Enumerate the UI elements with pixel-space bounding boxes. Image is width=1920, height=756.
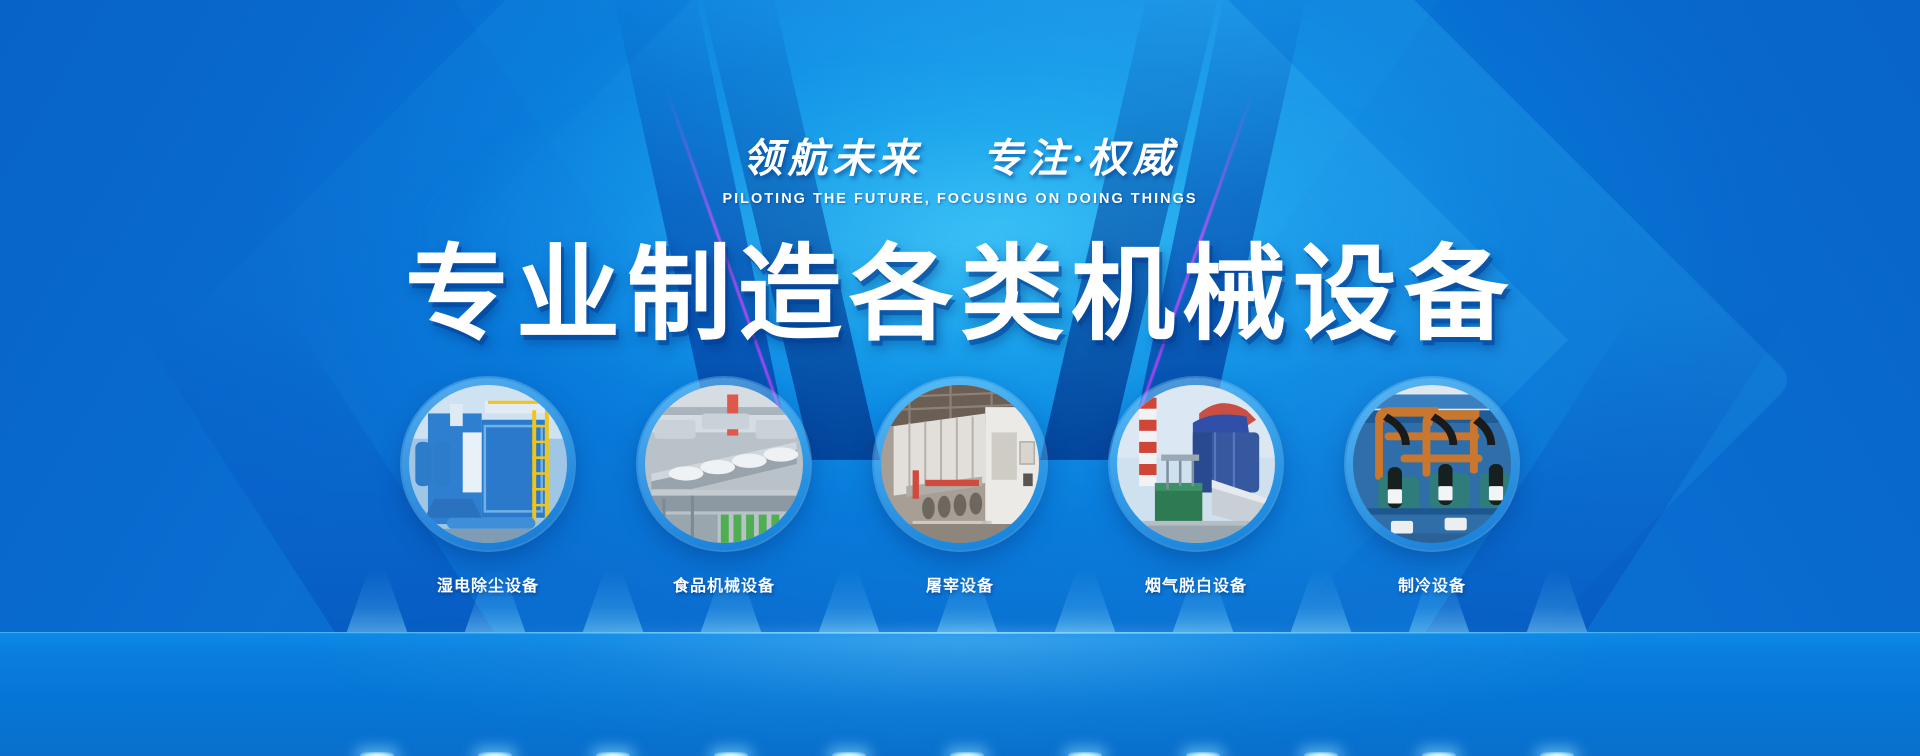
floor-light-spot xyxy=(478,752,512,756)
floor-light-spot xyxy=(1068,752,1102,756)
slaughtering-equipment-photo xyxy=(881,385,1039,543)
food-machinery-photo xyxy=(645,385,803,543)
floor-light-spot xyxy=(832,752,866,756)
floor-light-spot xyxy=(1186,752,1220,756)
promo-banner: 领航未来 专注·权威 PILOTING THE FUTURE, FOCUSING… xyxy=(0,0,1920,756)
floor-light-spot xyxy=(950,752,984,756)
circle-ring xyxy=(402,378,574,550)
circle-ring xyxy=(1346,378,1518,550)
tagline-chinese: 领航未来 专注·权威 xyxy=(743,126,1178,184)
floor-light-spot xyxy=(714,752,748,756)
page-title: 专业制造各类机械设备 xyxy=(0,238,1920,352)
circle-ring xyxy=(638,378,810,550)
circle-ring xyxy=(874,378,1046,550)
tagline-english: PILOTING THE FUTURE, FOCUSING ON DOING T… xyxy=(0,191,1920,207)
banner-content: 领航未来 专注·权威 PILOTING THE FUTURE, FOCUSING… xyxy=(0,0,1920,756)
floor-light-spot xyxy=(360,752,394,756)
floor-light-spot xyxy=(1422,752,1456,756)
stage-floor-glow xyxy=(320,630,1600,750)
circle-ring xyxy=(1110,378,1282,550)
stage-floor xyxy=(0,632,1920,756)
wet-electrostatic-precipitator-photo xyxy=(409,385,567,543)
floor-light-spot xyxy=(1304,752,1338,756)
flue-gas-dewhitening-photo xyxy=(1117,385,1275,543)
tagline-block: 领航未来 专注·权威 PILOTING THE FUTURE, FOCUSING… xyxy=(0,126,1920,207)
floor-light-spot xyxy=(1540,752,1574,756)
light-beam-group xyxy=(0,560,1920,640)
floor-light-spot xyxy=(596,752,630,756)
refrigeration-equipment-photo xyxy=(1353,385,1511,543)
